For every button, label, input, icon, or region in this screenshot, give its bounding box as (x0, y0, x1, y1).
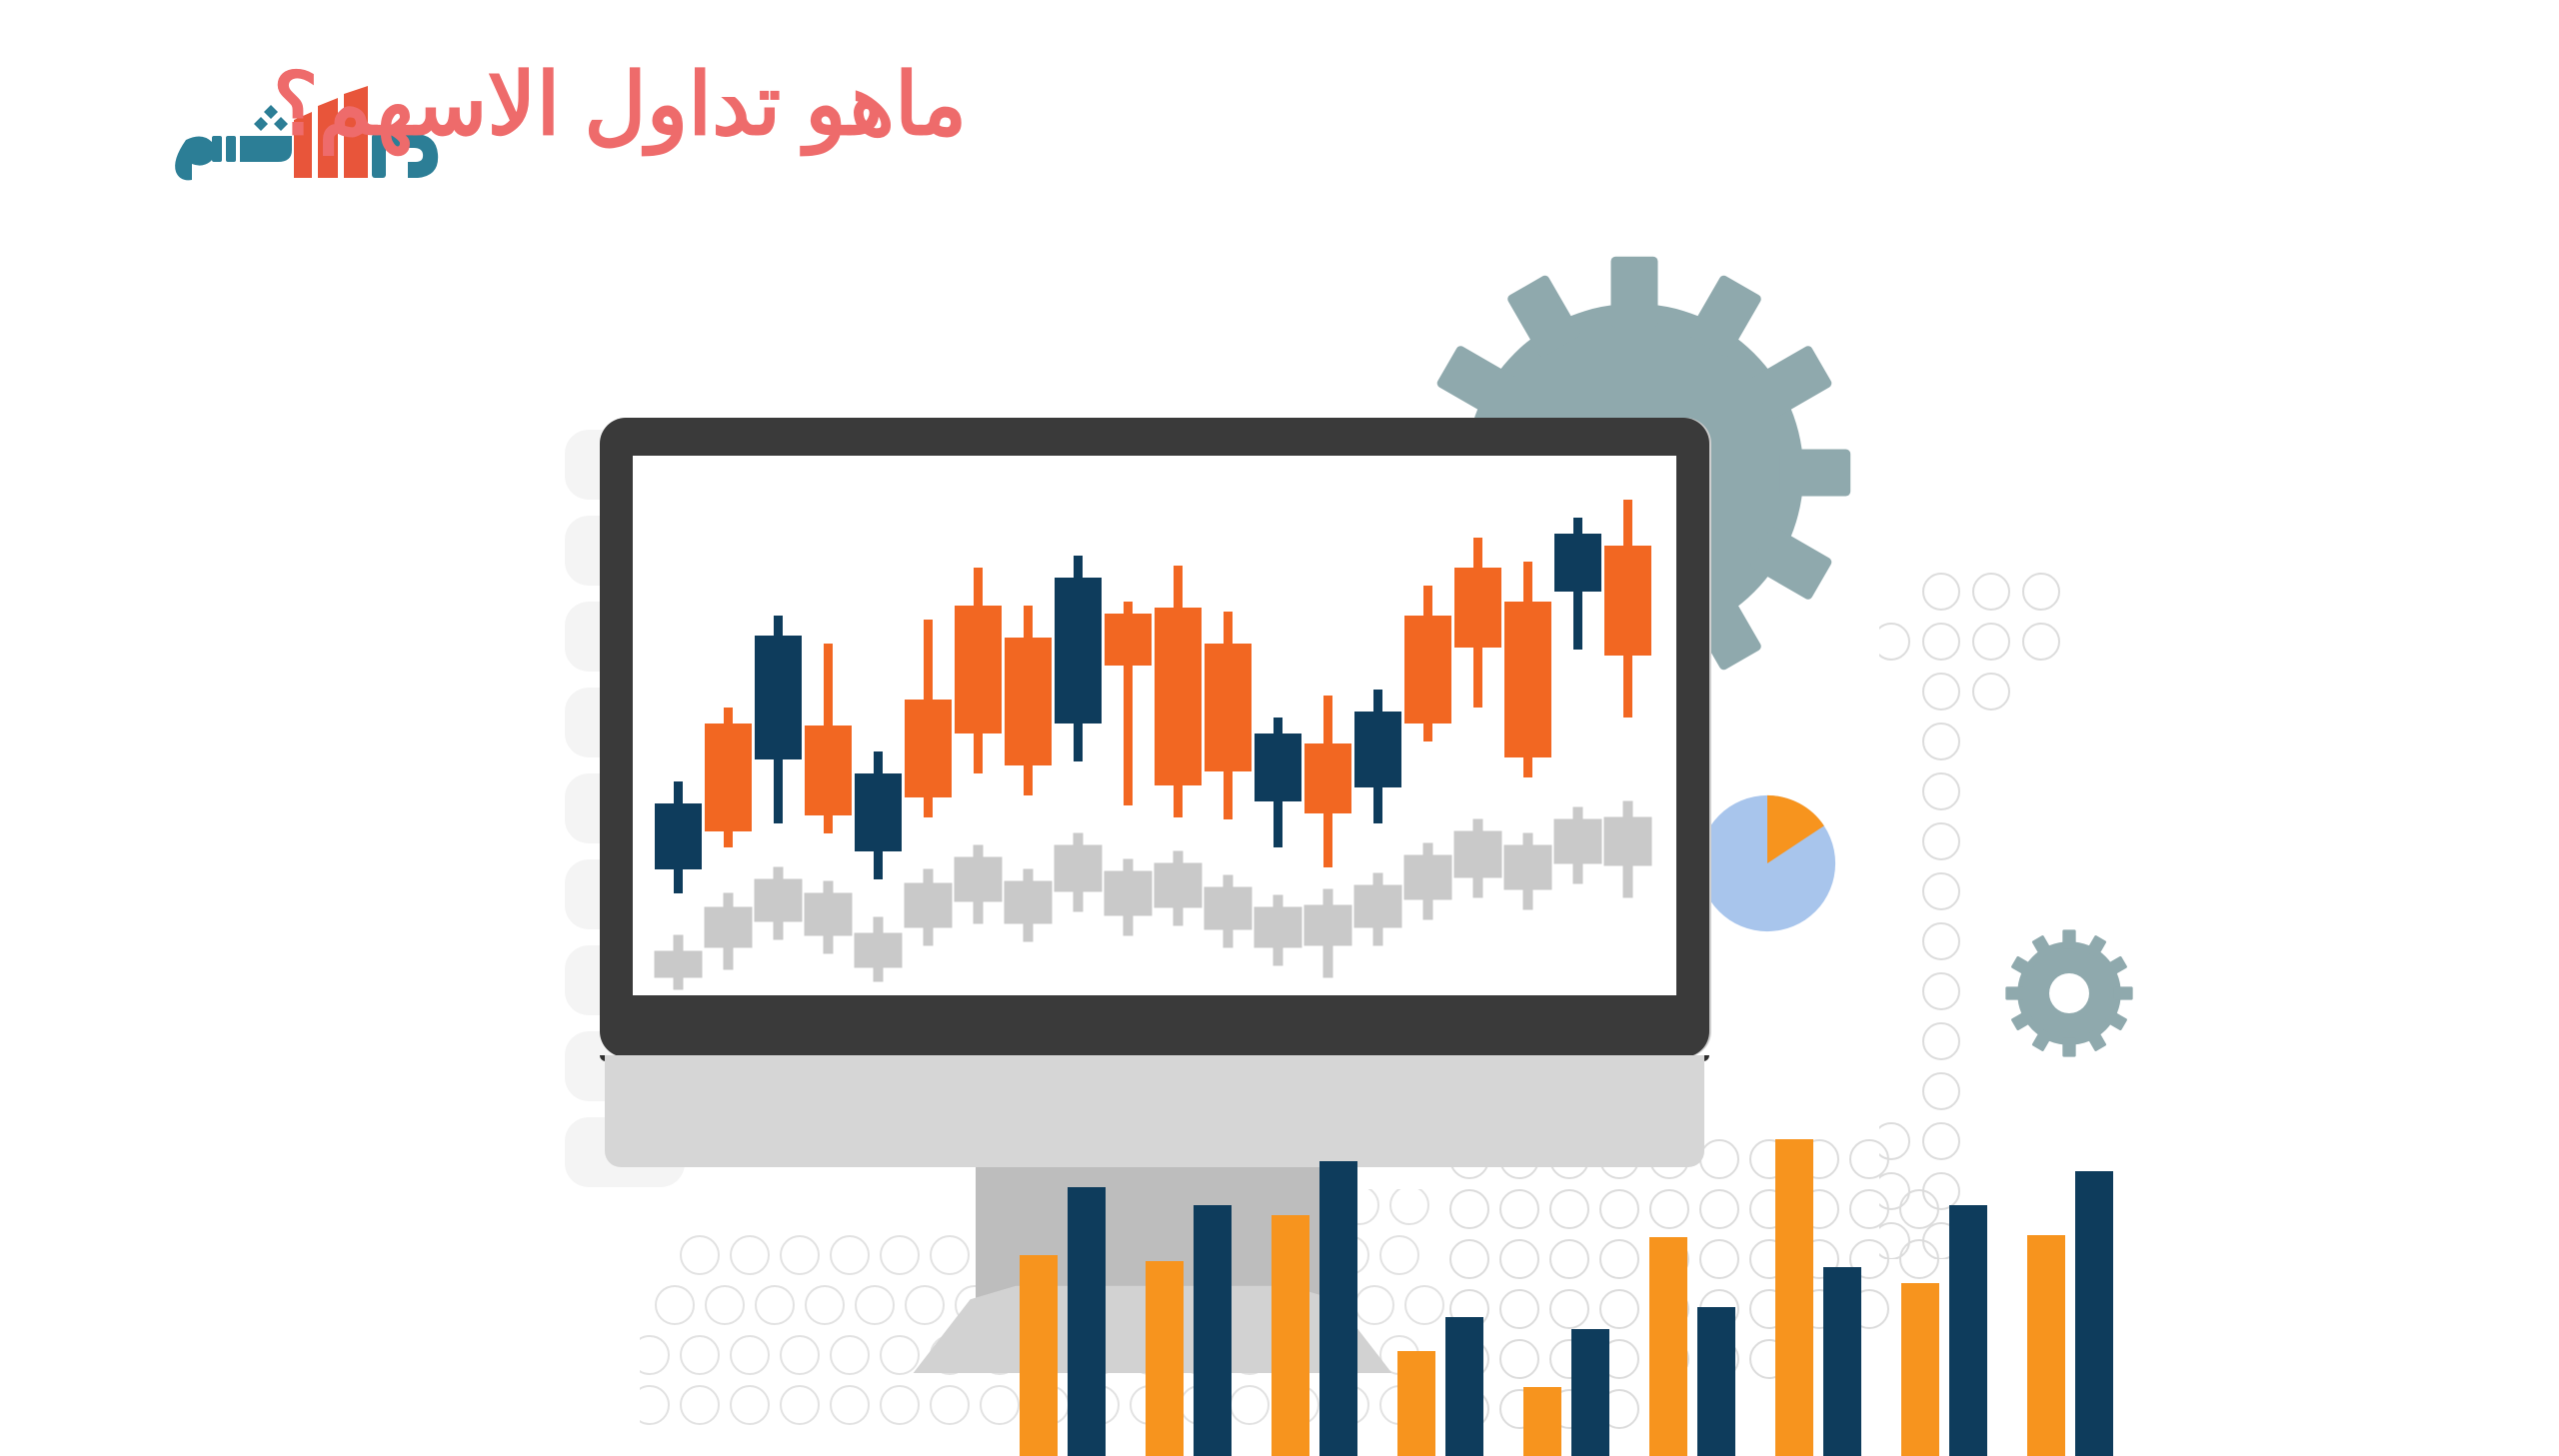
gear-icon (1995, 919, 2143, 1067)
pie-chart-icon (1693, 789, 1841, 937)
desktop-monitor-icon (600, 418, 1709, 1197)
page-title: ماهو تداول الاسهم؟ (10, 60, 1230, 150)
foreground-bar-chart (1010, 1119, 2149, 1456)
monitor-screen (633, 456, 1676, 995)
illustration-canvas: ماهو تداول الاسهم؟ (0, 0, 2559, 1456)
